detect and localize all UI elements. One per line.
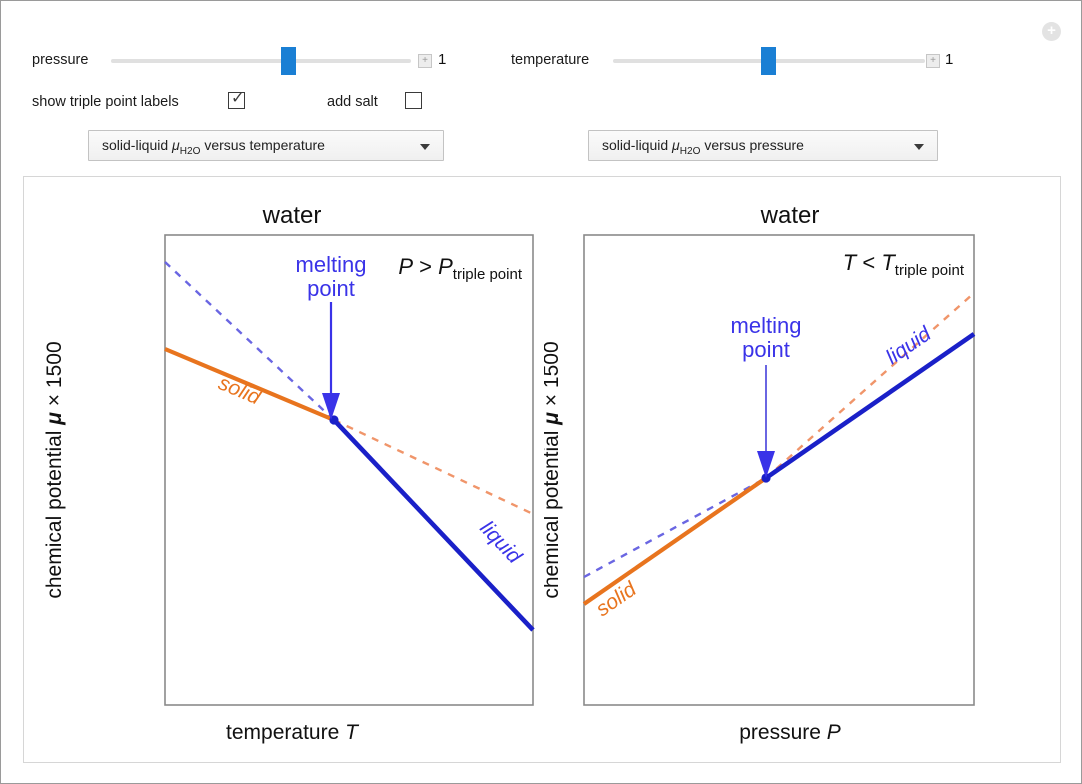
show-triple-point-labels-label: show triple point labels <box>32 94 179 110</box>
temperature-value: 1 <box>945 51 953 68</box>
left-selector-sub-h: H <box>180 146 187 157</box>
right-selector-suffix: versus pressure <box>700 137 803 153</box>
plots-panel: water chemical potential μ × 1500 temper… <box>23 176 1061 763</box>
left-liquid-series-label: liquid <box>475 517 526 569</box>
chart-mu-vs-temperature-svg: water chemical potential μ × 1500 temper… <box>24 177 544 764</box>
temperature-slider-thumb[interactable] <box>761 47 776 75</box>
chevron-down-icon[interactable] <box>914 144 924 150</box>
right-liquid-line <box>766 334 974 478</box>
chart-mu-vs-temperature: water chemical potential μ × 1500 temper… <box>24 177 544 764</box>
right-chart-x-axis-label: pressure P <box>739 721 841 744</box>
right-melting-point-label-line1: melting <box>731 313 802 338</box>
right-chart-condition-annotation: T < Ttriple point <box>843 250 965 279</box>
left-chart-frame <box>165 235 533 705</box>
pressure-stepper-icon[interactable]: + <box>418 54 432 68</box>
pressure-label: pressure <box>32 52 88 68</box>
temperature-slider[interactable] <box>613 46 925 76</box>
chevron-down-icon[interactable] <box>420 144 430 150</box>
left-selector-suffix: versus temperature <box>200 137 325 153</box>
left-solid-extrapolated-line <box>334 420 533 514</box>
right-liquid-extrapolated-line <box>584 478 766 577</box>
add-salt-checkbox[interactable] <box>405 92 422 109</box>
show-triple-point-labels-checkbox[interactable]: ✓ <box>228 92 245 109</box>
left-selector-prefix: solid-liquid <box>102 137 172 153</box>
left-melting-point-label-line2: point <box>307 276 355 301</box>
right-plot-selector[interactable]: solid-liquid μH2O versus pressure <box>588 130 938 161</box>
pressure-value: 1 <box>438 51 446 68</box>
left-plot-selector-label: solid-liquid μH2O versus temperature <box>102 137 325 157</box>
left-solid-series-label: solid <box>215 371 265 409</box>
left-chart-y-axis-label: chemical potential μ × 1500 <box>43 341 66 598</box>
left-plot-selector[interactable]: solid-liquid μH2O versus temperature <box>88 130 444 161</box>
chart-mu-vs-pressure: water chemical potential μ × 1500 pressu… <box>544 177 1062 764</box>
right-selector-sub-h: H <box>680 146 687 157</box>
left-melting-point-label-line1: melting <box>296 252 367 277</box>
temperature-stepper-icon[interactable]: + <box>926 54 940 68</box>
right-plot-selector-label: solid-liquid μH2O versus pressure <box>602 137 804 157</box>
right-melting-point-label-line2: point <box>742 337 790 362</box>
right-solid-line <box>584 478 766 604</box>
right-selector-prefix: solid-liquid <box>602 137 672 153</box>
pressure-slider-thumb[interactable] <box>281 47 296 75</box>
left-selector-mu: μ <box>172 137 180 153</box>
left-liquid-line <box>334 420 533 630</box>
right-selector-mu: μ <box>672 137 680 153</box>
left-chart-condition-annotation: P > Ptriple point <box>398 254 522 283</box>
right-chart-y-axis-label: chemical potential μ × 1500 <box>544 341 563 598</box>
chart-mu-vs-pressure-svg: water chemical potential μ × 1500 pressu… <box>544 177 1062 764</box>
add-circle-icon[interactable]: + <box>1042 22 1061 41</box>
application-window: + pressure + 1 temperature + 1 show trip… <box>0 0 1082 784</box>
checkmark-icon: ✓ <box>231 90 244 108</box>
left-chart-title: water <box>262 202 322 229</box>
left-chart-x-axis-label: temperature T <box>226 721 360 744</box>
right-liquid-series-label: liquid <box>882 322 937 369</box>
add-salt-label: add salt <box>327 94 378 110</box>
pressure-slider-track[interactable] <box>111 59 411 63</box>
right-chart-title: water <box>760 202 820 229</box>
pressure-slider[interactable] <box>111 46 411 76</box>
temperature-label: temperature <box>511 52 589 68</box>
